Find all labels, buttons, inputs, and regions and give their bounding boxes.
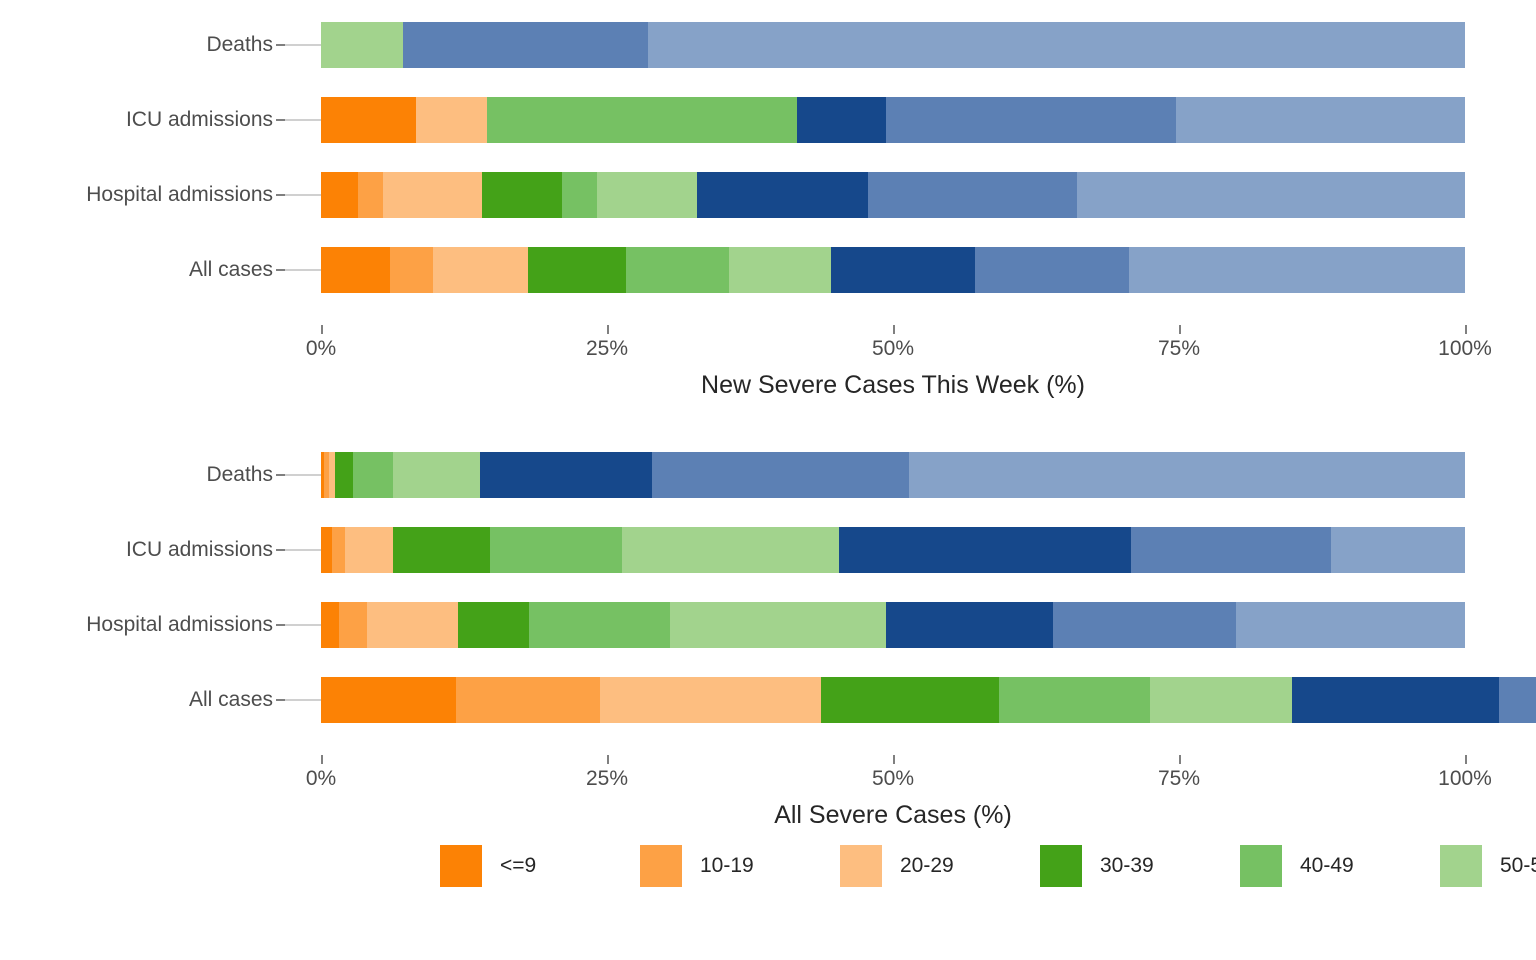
x-axis-tick — [1179, 755, 1181, 764]
bar-segment-4049 — [999, 677, 1150, 723]
bar-segment-1019 — [358, 172, 383, 218]
y-axis-label: All cases — [189, 677, 321, 723]
bar-segment-2029 — [416, 97, 487, 143]
y-axis-label: ICU admissions — [126, 97, 321, 143]
bar-row: Hospital admissions — [321, 172, 1465, 218]
bar-segment-5059 — [1150, 677, 1292, 723]
legend-swatch — [640, 845, 682, 887]
chart-panel-all-severe-cases: DeathsICU admissionsHospital admissionsA… — [0, 430, 1536, 820]
stacked-bar — [321, 527, 1465, 573]
x-axis-tick-label: 75% — [1158, 337, 1200, 361]
legend-label: 50-59 — [1500, 854, 1536, 878]
bar-row: Deaths — [321, 22, 1465, 68]
stacked-bar — [321, 22, 1465, 68]
x-axis-tick-label: 0% — [306, 337, 336, 361]
bar-segment-3039 — [821, 677, 999, 723]
stacked-bar — [321, 97, 1465, 143]
bar-segment-7079 — [868, 172, 1077, 218]
bar-segment-3039 — [528, 247, 626, 293]
bar-segment-6069 — [697, 172, 867, 218]
bar-segment-6069 — [1292, 677, 1499, 723]
legend-item[interactable]: 40-49 — [1240, 840, 1440, 892]
x-axis-tick — [1179, 325, 1181, 334]
bar-segment-5059 — [597, 172, 698, 218]
bar-segment-7079 — [975, 247, 1128, 293]
x-axis-tick — [607, 755, 609, 764]
bar-segment-5059 — [622, 527, 839, 573]
bar-segment-7079 — [1131, 527, 1331, 573]
bar-segment-9 — [321, 602, 339, 648]
bar-segment-6069 — [886, 602, 1053, 648]
bar-segment-2029 — [345, 527, 393, 573]
legend-label: 10-19 — [700, 854, 754, 878]
bar-segment-7079 — [652, 452, 909, 498]
legend: <=910-1920-2930-3940-4950-5960-6970-7980… — [0, 840, 1536, 950]
bar-segment-4049 — [490, 527, 622, 573]
x-axis-tick — [893, 755, 895, 764]
x-axis-tick-label: 75% — [1158, 767, 1200, 791]
legend-items: <=910-1920-2930-3940-4950-5960-6970-7980… — [440, 840, 1536, 892]
legend-label: 20-29 — [900, 854, 954, 878]
bar-segment-5059 — [393, 452, 480, 498]
legend-swatch — [1440, 845, 1482, 887]
legend-item[interactable]: 30-39 — [1040, 840, 1240, 892]
bar-segment-2029 — [600, 677, 821, 723]
bar-segment-6069 — [839, 527, 1131, 573]
bar-segment-6069 — [480, 452, 652, 498]
bar-segment-9 — [321, 247, 390, 293]
bar-segment-3039 — [458, 602, 529, 648]
bar-segment-3039 — [482, 172, 562, 218]
legend-label: <=9 — [500, 854, 536, 878]
bar-segment-80 — [1331, 527, 1465, 573]
y-axis-label: All cases — [189, 247, 321, 293]
bar-segment-5059 — [321, 22, 403, 68]
bar-segment-80 — [1077, 172, 1465, 218]
bar-row: Hospital admissions — [321, 602, 1465, 648]
legend-swatch — [1240, 845, 1282, 887]
bar-segment-3039 — [335, 452, 353, 498]
x-axis-tick-label: 0% — [306, 767, 336, 791]
bar-segment-7079 — [403, 22, 648, 68]
legend-swatch — [840, 845, 882, 887]
x-axis-title-2: All Severe Cases (%) — [321, 801, 1465, 830]
stacked-bar — [321, 452, 1465, 498]
bar-row: All cases — [321, 677, 1465, 723]
x-axis-tick — [893, 325, 895, 334]
stacked-bar — [321, 247, 1465, 293]
bar-row: ICU admissions — [321, 97, 1465, 143]
bar-segment-9 — [321, 677, 456, 723]
bar-segment-6069 — [831, 247, 975, 293]
bar-segment-6069 — [797, 97, 886, 143]
x-axis-tick-label: 50% — [872, 337, 914, 361]
bar-row: All cases — [321, 247, 1465, 293]
bar-segment-5059 — [670, 602, 886, 648]
bar-segment-4049 — [353, 452, 393, 498]
x-axis-tick-label: 100% — [1438, 337, 1492, 361]
x-axis-tick — [1465, 325, 1467, 334]
chart-figure: DeathsICU admissionsHospital admissionsA… — [0, 0, 1536, 960]
x-axis-tick — [321, 755, 323, 764]
x-axis-tick-label: 25% — [586, 337, 628, 361]
bar-segment-5059 — [729, 247, 831, 293]
bar-segment-4049 — [529, 602, 670, 648]
bar-segment-80 — [1129, 247, 1465, 293]
bar-segment-1019 — [339, 602, 366, 648]
x-axis-tick — [1465, 755, 1467, 764]
stacked-bar — [321, 677, 1465, 723]
bar-segment-4049 — [626, 247, 729, 293]
legend-swatch — [440, 845, 482, 887]
bar-row: Deaths — [321, 452, 1465, 498]
legend-swatch — [1040, 845, 1082, 887]
bar-segment-80 — [1176, 97, 1465, 143]
bar-segment-1019 — [390, 247, 433, 293]
bar-segment-1019 — [332, 527, 345, 573]
legend-item[interactable]: 20-29 — [840, 840, 1040, 892]
bar-segment-4049 — [487, 97, 797, 143]
bar-segment-1019 — [456, 677, 600, 723]
x-axis-tick — [321, 325, 323, 334]
bar-segment-2029 — [433, 247, 528, 293]
bar-segment-9 — [321, 172, 358, 218]
bar-segment-9 — [321, 97, 416, 143]
bar-segment-3039 — [393, 527, 490, 573]
bar-segment-7079 — [1053, 602, 1236, 648]
y-axis-label: Hospital admissions — [86, 172, 321, 218]
legend-label: 40-49 — [1300, 854, 1354, 878]
bar-segment-2029 — [383, 172, 483, 218]
y-axis-label: Deaths — [206, 22, 321, 68]
bar-segment-80 — [909, 452, 1465, 498]
x-axis-tick-label: 100% — [1438, 767, 1492, 791]
bar-segment-80 — [648, 22, 1465, 68]
bar-row: ICU admissions — [321, 527, 1465, 573]
x-axis-title-1: New Severe Cases This Week (%) — [321, 371, 1465, 400]
legend-item[interactable]: <=9 — [440, 840, 640, 892]
legend-item[interactable]: 10-19 — [640, 840, 840, 892]
y-axis-label: ICU admissions — [126, 527, 321, 573]
bar-segment-7079 — [886, 97, 1175, 143]
legend-item[interactable]: 50-59 — [1440, 840, 1536, 892]
chart-panel-new-severe-cases: DeathsICU admissionsHospital admissionsA… — [0, 0, 1536, 420]
y-axis-label: Deaths — [206, 452, 321, 498]
x-axis-tick — [607, 325, 609, 334]
legend-label: 30-39 — [1100, 854, 1154, 878]
x-axis-tick-label: 25% — [586, 767, 628, 791]
y-axis-label: Hospital admissions — [86, 602, 321, 648]
bar-segment-4049 — [562, 172, 596, 218]
stacked-bar — [321, 602, 1465, 648]
bar-segment-7079 — [1499, 677, 1536, 723]
bar-segment-9 — [321, 527, 332, 573]
x-axis-tick-label: 50% — [872, 767, 914, 791]
stacked-bar — [321, 172, 1465, 218]
bar-segment-2029 — [367, 602, 459, 648]
bar-segment-80 — [1236, 602, 1465, 648]
